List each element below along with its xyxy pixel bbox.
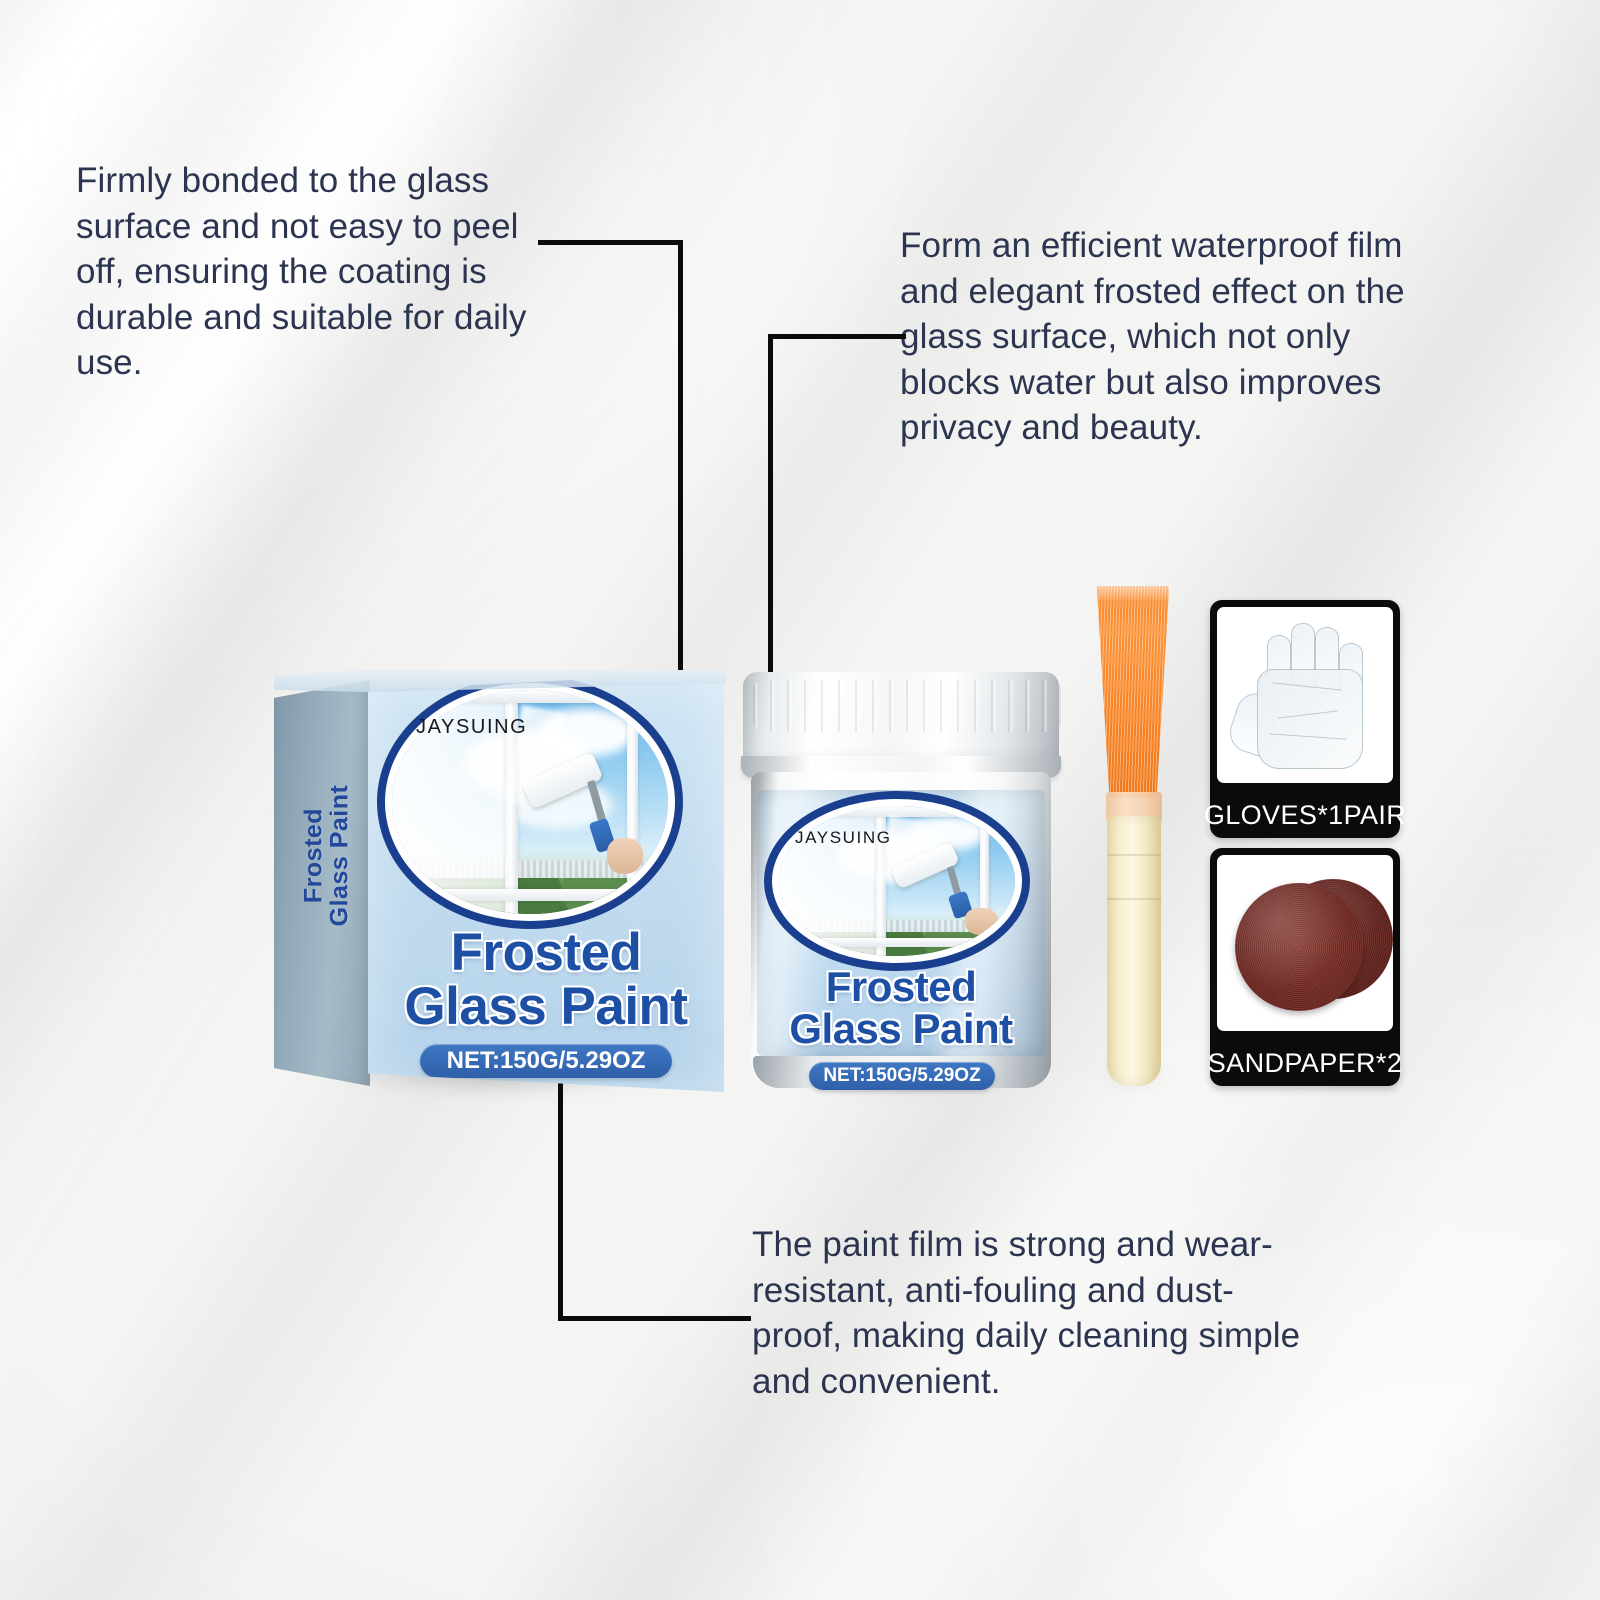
sandpaper-photo <box>1217 855 1393 1031</box>
leader-segment-horizontal <box>558 1316 751 1321</box>
gloves-label: GLOVES*1PAIR <box>1210 792 1400 838</box>
jar-title-line1: Frosted <box>757 966 1045 1008</box>
applicator-brush[interactable] <box>1080 586 1190 1092</box>
leader-segment-vertical <box>678 240 683 670</box>
brush-handle-band <box>1107 898 1161 900</box>
glove-illustration <box>1231 617 1391 775</box>
leader-segment-horizontal <box>768 334 906 339</box>
box-side-title-line2: Glass Paint <box>327 741 353 971</box>
jar-title-line2: Glass Paint <box>757 1008 1045 1050</box>
brush-bristle-tip-highlight <box>1094 586 1172 602</box>
callout-text-durability: The paint film is strong and wear-resist… <box>752 1222 1312 1404</box>
glove-crease <box>1272 682 1342 690</box>
glove-palm <box>1257 669 1363 769</box>
callout-adhesion-body: Firmly bonded to the glass surface and n… <box>76 158 556 386</box>
glove-crease <box>1270 733 1346 739</box>
callout-durability-body: The paint film is strong and wear-resist… <box>752 1222 1312 1404</box>
brush-handle-band <box>1107 854 1161 856</box>
box-side-title-line1: Frosted <box>302 741 328 971</box>
box-title-line2: Glass Paint <box>368 980 724 1033</box>
gloves-photo <box>1217 607 1393 783</box>
photo-window-header <box>779 806 1015 817</box>
photo-window-sill <box>392 889 668 900</box>
box-side-title: Frosted Glass Paint <box>302 741 353 971</box>
photo-window-sill <box>779 938 1015 947</box>
sandpaper-label: SANDPAPER*2 <box>1210 1040 1400 1086</box>
brush-bristles <box>1084 586 1182 798</box>
jar-lid[interactable] <box>743 672 1059 768</box>
jar-lid-ribs <box>753 680 1061 732</box>
infographic-canvas: Firmly bonded to the glass surface and n… <box>0 0 1600 1600</box>
sandpaper-disc-front <box>1235 883 1363 1011</box>
leader-line-waterproof <box>768 334 908 686</box>
leader-line-adhesion <box>538 240 686 670</box>
product-box[interactable]: Frosted Glass Paint <box>274 672 724 1092</box>
box-net-weight-badge: NET:150G/5.29OZ <box>420 1044 672 1078</box>
box-side-panel: Frosted Glass Paint <box>274 680 370 1086</box>
leader-segment-vertical <box>768 334 773 686</box>
accessory-card-sandpaper[interactable]: SANDPAPER*2 <box>1210 848 1400 1086</box>
callout-waterproof-body: Form an efficient waterproof film and el… <box>900 223 1440 451</box>
accessory-card-gloves[interactable]: GLOVES*1PAIR <box>1210 600 1400 838</box>
brush-handle <box>1107 816 1161 1086</box>
box-title-line1: Frosted <box>368 926 724 979</box>
jar-brand-logo: JAYSUING <box>795 828 892 848</box>
jar-label: JAYSUING Frosted Glass Paint <box>757 790 1045 1056</box>
jar-net-weight-badge: NET:150G/5.29OZ <box>809 1062 995 1090</box>
photo-hand <box>607 838 643 874</box>
box-front-panel: JAYSUING Frosted Glass Paint NET:150G/5.… <box>368 672 724 1092</box>
callout-text-adhesion: Firmly bonded to the glass surface and n… <box>76 158 556 386</box>
leader-segment-horizontal <box>538 240 683 245</box>
glove-crease <box>1278 710 1338 718</box>
box-brand-logo: JAYSUING <box>416 716 527 739</box>
photo-window-frame-right <box>627 690 638 914</box>
photo-window-header <box>392 690 668 703</box>
callout-text-waterproof: Form an efficient waterproof film and el… <box>900 223 1440 451</box>
product-jar[interactable]: JAYSUING Frosted Glass Paint NET:150G/5.… <box>737 672 1065 1090</box>
